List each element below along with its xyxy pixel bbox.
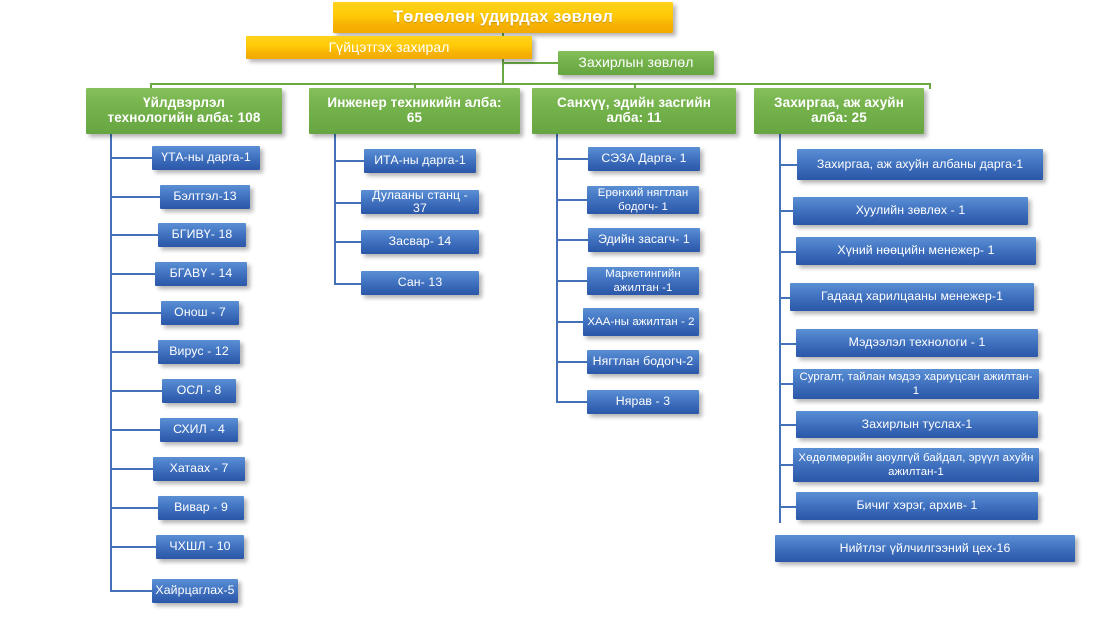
node-label: Хатаах - 7 <box>170 462 229 475</box>
dept-header-line-2: алба: 11 <box>606 111 661 126</box>
dept-header-line-1: Захиргаа, аж ахуйн <box>774 96 904 111</box>
connector-stub-1-5 <box>110 312 161 314</box>
node-label: Эдийн засагч- 1 <box>598 233 690 246</box>
connector-drop-dept-4 <box>929 83 931 89</box>
dept-4-item-10[interactable]: Нийтлэг үйлчилгээний цех-16 <box>775 535 1075 562</box>
dept-3-item-7[interactable]: Нярав - 3 <box>587 390 699 414</box>
connector-stub-4-7 <box>779 424 796 426</box>
dept-header-line-1: Үйлдвэрлэл <box>143 96 225 111</box>
node-label: Нягтлан бодогч-2 <box>593 355 694 368</box>
connector-stub-3-5 <box>556 321 583 323</box>
dept-header-1[interactable]: Үйлдвэрлэл технологийн алба: 108 <box>86 88 282 134</box>
connector-stub-3-1 <box>556 158 588 160</box>
node-label: Хөдөлмөрийн аюулгүй байдал, эрүүл ахуйн … <box>797 451 1035 480</box>
connector-stub-4-2 <box>779 210 793 212</box>
dept-header-line-2: технологийн алба: 108 <box>108 111 261 126</box>
node-label: Төлөөлөн удирдах зөвлөл <box>393 9 613 27</box>
dept-1-item-1[interactable]: ҮТА-ны дарга-1 <box>152 146 260 170</box>
node-label: ҮТА-ны дарга-1 <box>161 151 251 164</box>
dept-4-item-6[interactable]: Сургалт, тайлан мэдээ хариуцсан ажилтан-… <box>793 369 1039 399</box>
dept-1-item-2[interactable]: Бэлтгэл-13 <box>160 185 250 209</box>
connector-stub-1-9 <box>110 468 153 470</box>
node-label: Нийтлэг үйлчилгээний цех-16 <box>840 542 1011 555</box>
dept-1-item-4[interactable]: БГАВҮ - 14 <box>155 262 247 286</box>
dept-header-2[interactable]: Инженер техникийн алба: 65 <box>309 88 520 134</box>
connector-stub-1-1 <box>110 157 152 159</box>
connector-stub-3-4 <box>556 280 587 282</box>
dept-1-item-12[interactable]: Хайрцаглах-5 <box>152 579 238 603</box>
dept-2-item-4[interactable]: Сан- 13 <box>361 271 479 295</box>
connector-spine-dept-2 <box>334 133 336 285</box>
node-label: БГАВҮ - 14 <box>170 267 233 280</box>
connector-stub-4-3 <box>779 251 796 253</box>
node-label: СХИЛ - 4 <box>173 423 225 436</box>
connector-stub-1-2 <box>110 196 160 198</box>
dept-1-item-9[interactable]: Хатаах - 7 <box>153 457 245 481</box>
connector-stub-4-5 <box>779 343 796 345</box>
node-label: Сургалт, тайлан мэдээ хариуцсан ажилтан-… <box>797 370 1035 399</box>
connector-stub-4-4 <box>779 297 790 299</box>
dept-1-item-5[interactable]: Онош - 7 <box>161 301 239 325</box>
dept-1-item-8[interactable]: СХИЛ - 4 <box>160 418 238 442</box>
node-label: Захирлын туслах-1 <box>862 418 973 431</box>
dept-4-item-7[interactable]: Захирлын туслах-1 <box>796 411 1038 438</box>
connector-stub-4-1 <box>779 164 797 166</box>
dept-1-item-11[interactable]: ЧХШЛ - 10 <box>156 535 244 559</box>
connector-stub-2-2 <box>334 202 361 204</box>
node-label: Гадаад харилцааны менежер-1 <box>821 290 1003 303</box>
connector-stub-1-3 <box>110 234 158 236</box>
dept-4-item-2[interactable]: Хуулийн зөвлөх - 1 <box>793 197 1028 225</box>
dept-header-line-1: Санхүү, эдийн засгийн <box>557 96 711 111</box>
dept-1-item-10[interactable]: Вивар - 9 <box>158 496 244 520</box>
node-label: ХАА-ны ажилтан - 2 <box>587 315 694 329</box>
node-label: Мэдээлэл технологи - 1 <box>849 336 986 349</box>
dept-header-4[interactable]: Захиргаа, аж ахуйн алба: 25 <box>754 88 924 134</box>
node-label: ЧХШЛ - 10 <box>169 540 230 553</box>
connector-directors-council <box>502 62 560 64</box>
node-label: БГИВҮ- 18 <box>172 228 233 241</box>
node-label: Захиргаа, аж ахуйн албаны дарга-1 <box>817 158 1023 171</box>
node-label: ИТА-ны дарга-1 <box>374 154 466 167</box>
connector-departments-bus <box>150 83 930 85</box>
dept-1-item-7[interactable]: ОСЛ - 8 <box>162 379 236 403</box>
dept-2-item-1[interactable]: ИТА-ны дарга-1 <box>364 149 476 173</box>
dept-4-item-4[interactable]: Гадаад харилцааны менежер-1 <box>790 283 1034 311</box>
dept-4-item-1[interactable]: Захиргаа, аж ахуйн албаны дарга-1 <box>797 149 1043 180</box>
org-chart: Төлөөлөн удирдах зөвлөл Гүйцэтгэх захира… <box>0 0 1103 630</box>
dept-header-line-2: 65 <box>407 111 422 126</box>
dept-3-item-2[interactable]: Ерөнхий нягтлан бодогч- 1 <box>587 186 699 214</box>
connector-stub-1-7 <box>110 390 162 392</box>
dept-4-item-5[interactable]: Мэдээлэл технологи - 1 <box>796 329 1038 357</box>
dept-2-item-2[interactable]: Дулааны станц - 37 <box>361 190 479 214</box>
dept-4-item-3[interactable]: Хүний нөөцийн менежер- 1 <box>796 237 1036 265</box>
dept-3-item-5[interactable]: ХАА-ны ажилтан - 2 <box>583 308 699 336</box>
dept-3-item-1[interactable]: СЭЗА Дарга- 1 <box>588 147 700 171</box>
connector-stub-3-3 <box>556 239 588 241</box>
node-label: Ерөнхий нягтлан бодогч- 1 <box>591 186 695 215</box>
node-directors-council[interactable]: Захирлын зөвлөл <box>558 51 714 75</box>
dept-header-line-1: Инженер техникийн алба: <box>327 96 501 111</box>
node-label: Бичиг хэрэг, архив- 1 <box>856 499 977 512</box>
connector-stub-2-1 <box>334 160 364 162</box>
connector-stub-1-10 <box>110 507 158 509</box>
dept-4-item-8[interactable]: Хөдөлмөрийн аюулгүй байдал, эрүүл ахуйн … <box>793 448 1039 482</box>
node-label: Онош - 7 <box>174 306 226 319</box>
connector-stub-2-3 <box>334 241 361 243</box>
node-label: Бэлтгэл-13 <box>173 190 236 203</box>
connector-stub-4-9 <box>779 506 796 508</box>
dept-header-3[interactable]: Санхүү, эдийн засгийн алба: 11 <box>532 88 736 134</box>
node-label: Хайрцаглах-5 <box>155 584 234 597</box>
node-label: Нярав - 3 <box>616 395 670 408</box>
dept-3-item-4[interactable]: Маркетингийн ажилтан -1 <box>587 267 699 295</box>
dept-3-item-6[interactable]: Нягтлан бодогч-2 <box>587 350 699 374</box>
node-label: Маркетингийн ажилтан -1 <box>591 267 695 296</box>
connector-stub-1-6 <box>110 351 158 353</box>
node-label: СЭЗА Дарга- 1 <box>601 152 686 165</box>
node-label: Сан- 13 <box>398 276 443 289</box>
node-label: ОСЛ - 8 <box>177 384 222 397</box>
dept-1-item-3[interactable]: БГИВҮ- 18 <box>158 223 246 247</box>
node-ceo[interactable]: Гүйцэтгэх захирал <box>246 36 532 59</box>
connector-stub-1-11 <box>110 546 156 548</box>
connector-stub-1-8 <box>110 429 160 431</box>
node-label: Гүйцэтгэх захирал <box>328 40 449 55</box>
node-label: Захирлын зөвлөл <box>578 55 693 70</box>
node-board-of-directors[interactable]: Төлөөлөн удирдах зөвлөл <box>333 2 673 33</box>
node-label: Вивар - 9 <box>174 501 228 514</box>
dept-1-item-6[interactable]: Вирус - 12 <box>158 340 240 364</box>
connector-stub-1-4 <box>110 273 155 275</box>
node-label: Хүний нөөцийн менежер- 1 <box>837 244 994 257</box>
dept-header-line-2: алба: 25 <box>811 111 867 126</box>
connector-stub-4-8 <box>779 464 793 466</box>
connector-stub-3-6 <box>556 361 587 363</box>
node-label: Дулааны станц - 37 <box>365 189 475 216</box>
dept-3-item-3[interactable]: Эдийн засагч- 1 <box>588 228 700 252</box>
node-label: Засвар- 14 <box>389 235 452 248</box>
node-label: Вирус - 12 <box>169 345 229 358</box>
dept-4-item-9[interactable]: Бичиг хэрэг, архив- 1 <box>796 492 1038 520</box>
dept-2-item-3[interactable]: Засвар- 14 <box>361 230 479 254</box>
connector-stub-2-4 <box>334 283 361 285</box>
connector-stub-3-7 <box>556 401 587 403</box>
connector-spine-dept-1 <box>110 133 112 591</box>
node-label: Хуулийн зөвлөх - 1 <box>856 204 966 217</box>
connector-stub-4-6 <box>779 383 793 385</box>
connector-stub-3-2 <box>556 199 587 201</box>
connector-stub-1-12 <box>110 590 152 592</box>
